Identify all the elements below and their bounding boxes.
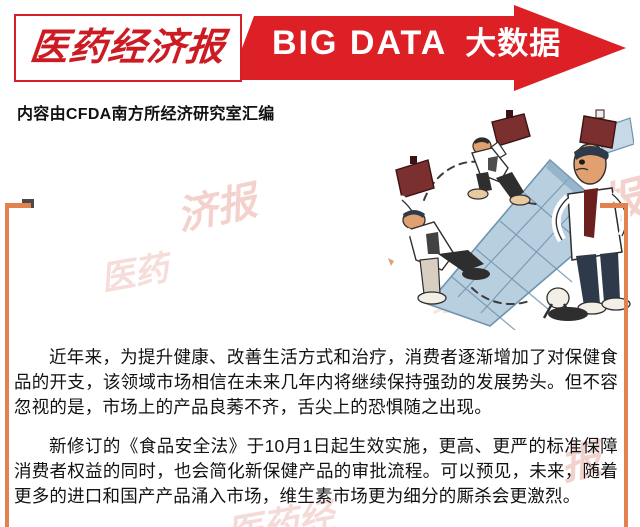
infographic-page: 医药经济报 BIG DATA 大数据 内容由CFDA南方所经济研究室汇编 济报 … [0,0,640,527]
masthead-banner: 医药经济报 BIG DATA 大数据 [0,0,640,98]
newspaper-logo: 医药经济报 [14,14,242,82]
banner-title-en: BIG DATA [272,26,447,60]
article-paragraph: 近年来，为提升健康、改善生活方式和治疗，消费者逐渐增加了对保健食品的开支，该领域… [14,345,618,420]
source-credit: 内容由CFDA南方所经济研究室汇编 [17,100,275,124]
vertical-rule-right [624,203,628,527]
banner-title-group: BIG DATA 大数据 [272,26,561,60]
article-body: 近年来，为提升健康、改善生活方式和治疗，消费者逐渐增加了对保健食品的开支，该领域… [14,345,618,523]
figure-jumping [468,110,530,205]
businessmen-climbing-chart-illustration [372,108,634,330]
article-paragraph: 新修订的《食品安全法》于10月1日起生效实施，更高、更严的标准保障消费者权益的同… [14,434,618,509]
vertical-rule-left [5,203,9,527]
watermark: 医药 [96,240,171,300]
watermark: 济报 [171,168,261,241]
banner-title-cn: 大数据 [465,28,561,59]
newspaper-logo-text: 医药经济报 [28,29,227,67]
